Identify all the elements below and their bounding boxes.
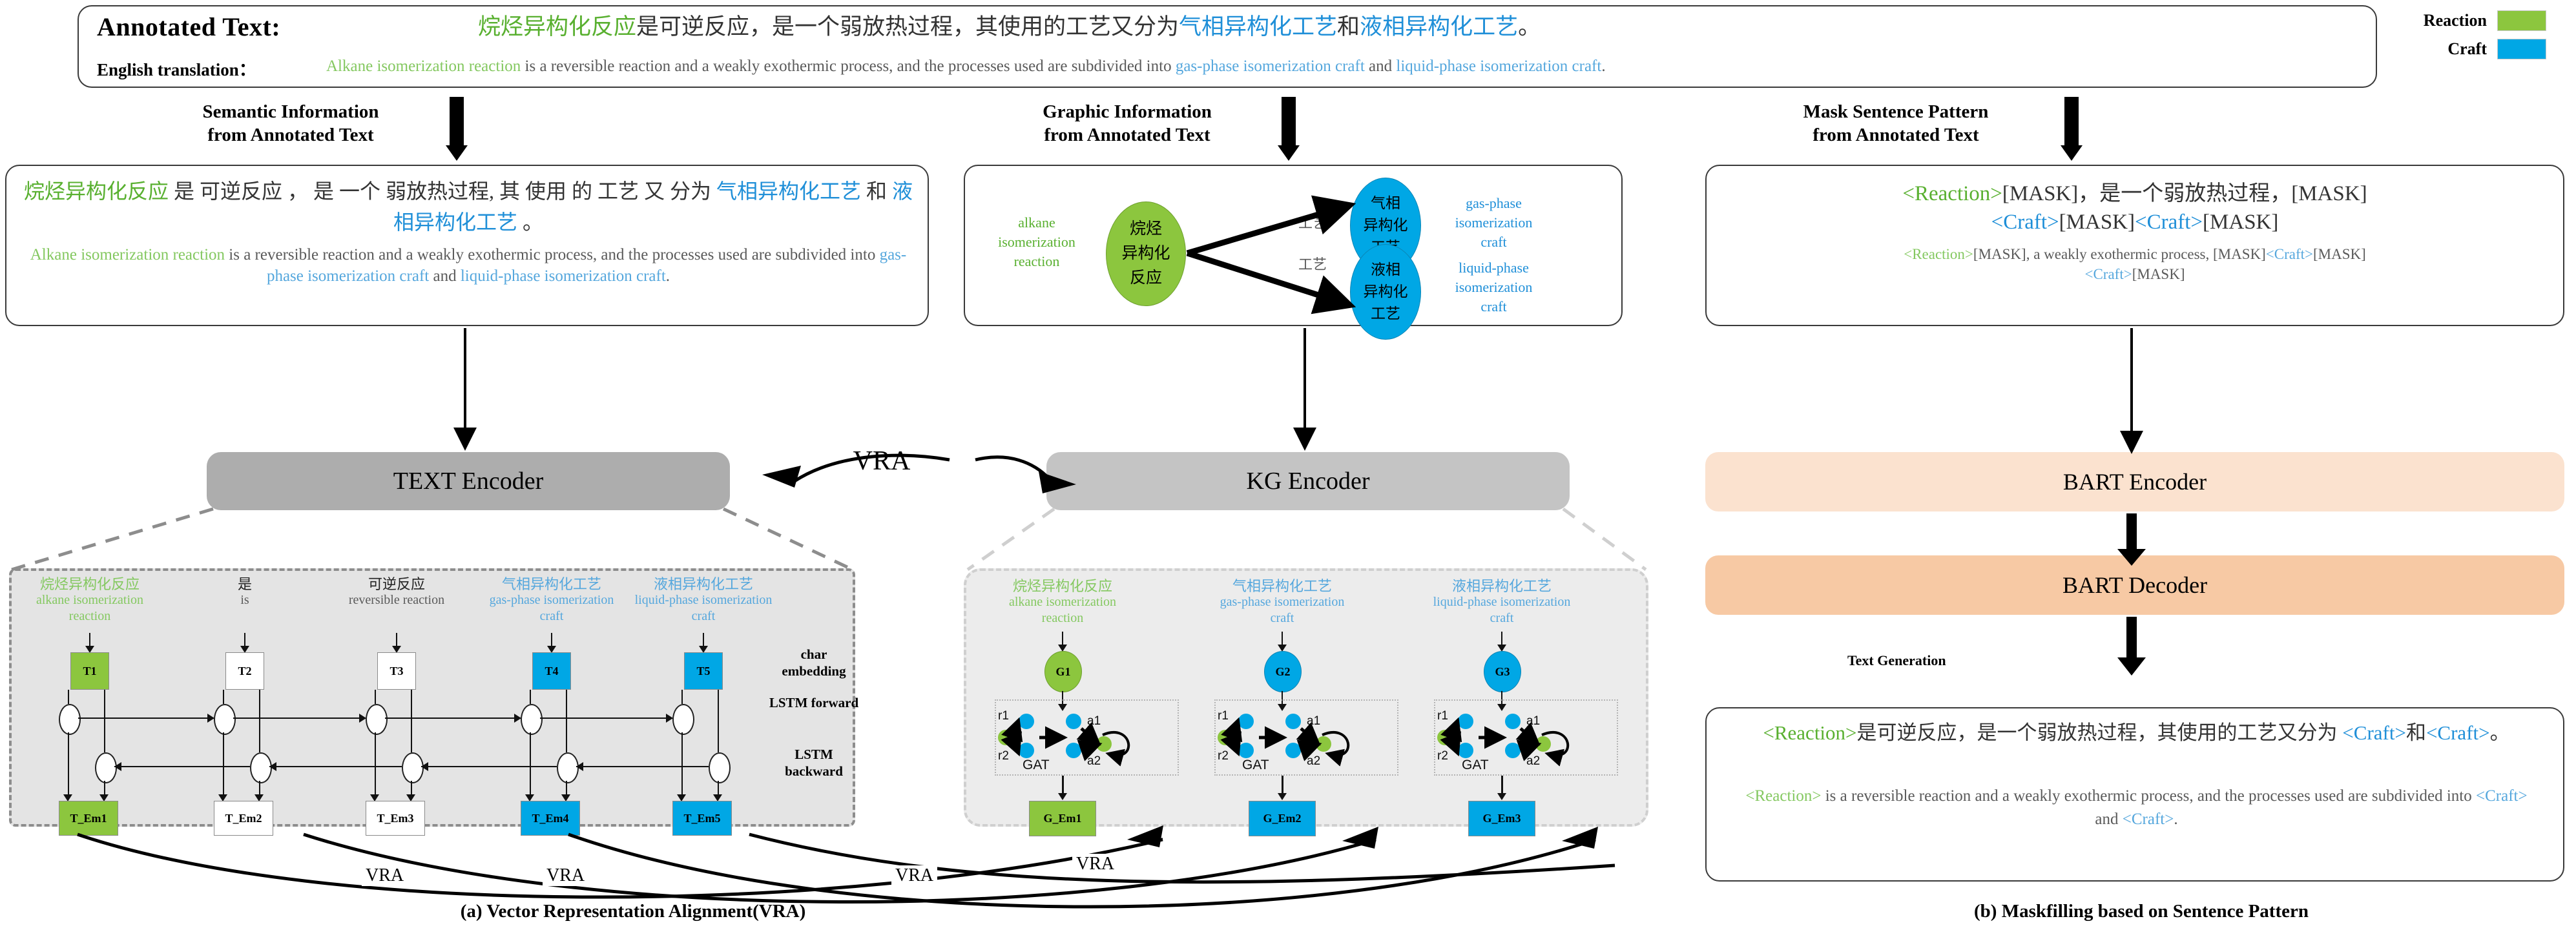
gat-relation-node-r1-3 <box>1458 714 1473 729</box>
gat-label-r1-2: r1 <box>1218 709 1229 723</box>
text-span-craft: liquid-phase isomerization craft <box>461 267 666 285</box>
text-span-plain: is a reversible reaction and a weakly ex… <box>225 246 880 263</box>
text-span-plain: 。 <box>1518 14 1541 39</box>
lstm-forward-link-head-2 <box>359 714 366 723</box>
text-span-craft: gas-phase isomerization craft <box>1176 57 1365 75</box>
lstm-backward-out-4 <box>566 781 567 796</box>
gat-label-a1-1: a1 <box>1087 714 1101 728</box>
gat-attn-node-1-1 <box>1066 714 1081 729</box>
gat-label-1: GAT <box>1023 758 1050 773</box>
gat-attn-node-1-3 <box>1505 714 1521 729</box>
text-token-en-3: reversible reaction <box>349 593 444 607</box>
gat-label-2: GAT <box>1242 758 1269 773</box>
char-embedding-box-label-4: T4 <box>545 665 558 678</box>
text-span-plain: [MASK]，是一个弱放热过程，[MASK] <box>2002 182 2367 205</box>
text-span-craft: <Craft> <box>2085 266 2132 282</box>
char-embedding-box-2: T2 <box>225 652 264 690</box>
gat-attn-node-2-1 <box>1066 743 1081 758</box>
lstm-backward-link-head-4 <box>576 762 583 771</box>
text-generation-label: Text Generation <box>1847 652 1946 669</box>
text-span-plain: and <box>1365 57 1397 75</box>
kg-graph-node-label-1: G1 <box>1055 665 1070 679</box>
lstm-backward-link-4 <box>576 766 709 767</box>
mask-pattern-english: <Reaction>[MASK], a weakly exothermic pr… <box>1718 244 2551 284</box>
text-embedding-label-4: T_Em4 <box>532 812 568 825</box>
kg-node-en-1: alkane isomerization reaction <box>1009 595 1116 625</box>
text-span-plain: [MASK] <box>2059 211 2135 234</box>
gat-relation-node-r2-2 <box>1238 743 1254 758</box>
gat-label-a2-1: a2 <box>1087 754 1101 769</box>
vra-link-label-1: VRA <box>543 865 588 886</box>
bart-encoder-block[interactable]: BART Encoder <box>1705 452 2564 511</box>
kg-embedding-label-3: G_Em3 <box>1482 812 1521 825</box>
text-span-plain: . <box>1601 57 1605 75</box>
text-span-plain: [MASK] <box>2132 266 2185 282</box>
text-span-plain: 是可逆反应，是一个弱放热过程，其使用的工艺又分为 <box>1857 721 2343 744</box>
text-span-craft: <Craft> <box>2266 246 2313 262</box>
kg-graph-node-label-3: G3 <box>1495 665 1510 679</box>
lstm-forward-cell-2 <box>214 704 236 735</box>
text-embedding-label-2: T_Em2 <box>225 812 262 825</box>
text-embedding-label-1: T_Em1 <box>70 812 107 825</box>
legend-label-reaction: Reaction <box>2390 11 2497 30</box>
gat-label-a2-2: a2 <box>1307 754 1320 769</box>
lstm-backward-label: LSTM backward <box>769 746 859 780</box>
kg-node-en-2: gas-phase isomerization craft <box>1220 595 1345 625</box>
lstm-forward-link-2 <box>233 718 366 719</box>
text-token-arrow-3 <box>396 633 397 647</box>
text-span-plain: [MASK] <box>2313 246 2366 262</box>
graphic-arrow-icon <box>1278 97 1300 161</box>
legend-item-craft: Craft <box>2390 35 2571 63</box>
legend-item-reaction: Reaction <box>2390 6 2571 35</box>
vra-link-label-3: VRA <box>1072 854 1118 874</box>
lstm-backward-in-2 <box>259 690 260 752</box>
char-embedding-box-label-2: T2 <box>238 665 251 678</box>
kg-node-zh-1: 烷烃异构化反应 <box>988 578 1137 594</box>
figure-caption-a: (a) Vector Representation Alignment(VRA) <box>213 901 1053 922</box>
lstm-forward-link-3 <box>385 718 521 719</box>
kg-embedding-label-2: G_Em2 <box>1263 812 1301 825</box>
gat-label-r2-3: r2 <box>1437 749 1448 763</box>
gat-relation-node-r1-1 <box>1019 714 1034 729</box>
lstm-backward-link-head-1 <box>114 762 121 771</box>
semantic-chinese-text: 烷烃异构化反应 是 可逆反应 ， 是 一个 弱放热过程, 其 使用 的 工艺 又… <box>19 176 917 238</box>
text-token-arrow-5 <box>703 633 704 647</box>
text-span-plain: 。 <box>517 211 543 234</box>
text-span-plain: is a reversible reaction and a weakly ex… <box>521 57 1176 75</box>
kg-node-arrow-3 <box>1501 632 1502 646</box>
mask-arrow-icon <box>2061 97 2083 161</box>
text-span-craft: 液相异构化工艺 <box>1360 14 1518 39</box>
annotated-text-english: Alkane isomerization reaction is a rever… <box>326 57 2348 76</box>
legend: Reaction Craft <box>2390 6 2571 77</box>
text-span-plain: . <box>666 267 670 285</box>
vra-top-label: VRA <box>804 446 959 477</box>
kg-embedding-box-1: G_Em1 <box>1029 801 1096 836</box>
text-span-craft: <Craft> <box>2426 721 2490 744</box>
bart-decoder-label: BART Decoder <box>2062 572 2207 599</box>
lstm-backward-link-1 <box>114 766 250 767</box>
gat-attn-node-2-3 <box>1505 743 1521 758</box>
kg-graph-node-label-2: G2 <box>1275 665 1290 679</box>
lstm-backward-link-head-3 <box>421 762 428 771</box>
gat-relation-node-r2-3 <box>1458 743 1473 758</box>
char-embedding-box-4: T4 <box>532 652 571 690</box>
kg-node-zh-2: 气相异构化工艺 <box>1208 578 1356 594</box>
lstm-forward-cell-3 <box>366 704 388 735</box>
text-span-reaction: 烷烃异构化反应 <box>24 180 169 203</box>
text-token-label-5: 液相异构化工艺liquid-phase isomerization craft <box>632 576 774 625</box>
text-token-en-2: is <box>240 593 249 607</box>
semantic-english-text: Alkane isomerization reaction is a rever… <box>29 244 908 287</box>
text-span-reaction: <Reaction> <box>1904 246 1973 262</box>
text-token-en-5: liquid-phase isomerization craft <box>635 593 773 623</box>
text-span-plain: [MASK] <box>2203 211 2278 234</box>
text-span-plain: 是 可逆反应 ， 是 一个 弱放热过程, 其 使用 的 工艺 又 分为 <box>169 180 716 203</box>
gat-label-a2-3: a2 <box>1526 754 1540 769</box>
graphic-info-caption: Graphic Information from Annotated Text <box>988 100 1266 147</box>
text-token-label-3: 可逆反应reversible reaction <box>326 576 468 608</box>
char-embedding-box-label-5: T5 <box>696 665 710 678</box>
annotated-text-chinese: 烷烃异构化反应是可逆反应，是一个弱放热过程，其使用的工艺又分为气相异构化工艺和液… <box>478 13 2351 41</box>
gat-label-r1-3: r1 <box>1437 709 1448 723</box>
text-span-reaction: <Reaction> <box>1745 787 1821 805</box>
gat-target-node-3 <box>1535 736 1551 752</box>
bart-encoder-label: BART Encoder <box>2063 468 2207 495</box>
english-translation-label: English translation： <box>97 56 256 81</box>
gat-label-3: GAT <box>1462 758 1489 773</box>
gat-label-r2-2: r2 <box>1218 749 1229 763</box>
lstm-forward-out-4 <box>530 732 531 796</box>
kg-node-label-3: 液相异构化工艺liquid-phase isomerization craft <box>1428 578 1576 626</box>
char-embedding-box-5: T5 <box>684 652 723 690</box>
text-span-craft: <Craft> <box>1991 211 2059 234</box>
char-embedding-label: char embedding <box>769 646 859 679</box>
lstm-forward-cell-1 <box>59 704 81 735</box>
kg-embedding-label-1: G_Em1 <box>1043 812 1081 825</box>
gat-target-node-2 <box>1316 736 1331 752</box>
lstm-forward-in-3 <box>375 690 376 704</box>
text-span-reaction: Alkane isomerization reaction <box>30 246 225 263</box>
gat-label-a1-2: a1 <box>1307 714 1320 728</box>
gat-attn-node-1-2 <box>1285 714 1301 729</box>
kg-encoder-label: KG Encoder <box>1247 467 1370 495</box>
text-token-zh-2: 是 <box>174 576 316 592</box>
char-embedding-box-label-3: T3 <box>390 665 403 678</box>
lstm-backward-in-3 <box>411 690 412 752</box>
lstm-forward-out-3 <box>375 732 376 796</box>
lstm-backward-in-1 <box>104 690 105 752</box>
text-embedding-box-3: T_Em3 <box>366 801 425 836</box>
lstm-forward-cell-4 <box>521 704 543 735</box>
text-token-arrow-4 <box>551 633 552 647</box>
lstm-forward-out-2 <box>223 732 224 796</box>
lstm-forward-link-4 <box>540 718 672 719</box>
kg-head-node-english: alkane isomerization reaction <box>975 213 1098 271</box>
figure-caption-b: (b) Maskfilling based on Sentence Patter… <box>1744 901 2539 922</box>
text-token-en-4: gas-phase isomerization craft <box>490 593 614 623</box>
lstm-backward-out-1 <box>104 781 105 796</box>
text-embedding-box-1: T_Em1 <box>59 801 118 836</box>
legend-swatch-reaction <box>2497 10 2546 31</box>
kg-tail-node-2-english: liquid-phase isomerization craft <box>1428 258 1560 316</box>
char-embedding-box-3: T3 <box>377 652 416 690</box>
lstm-forward-cell-5 <box>672 704 694 735</box>
semantic-info-caption: Semantic Information from Annotated Text <box>155 100 426 147</box>
text-span-craft: <Craft> <box>2342 721 2406 744</box>
gat-to-emb-head-2 <box>1278 793 1287 800</box>
lstm-backward-link-head-2 <box>269 762 276 771</box>
text-span-plain: 和 <box>1337 14 1360 39</box>
lstm-forward-link-head-3 <box>514 714 521 723</box>
gat-relation-node-r1-2 <box>1238 714 1254 729</box>
kg-node-label-2: 气相异构化工艺gas-phase isomerization craft <box>1208 578 1356 626</box>
text-span-reaction: <Reaction> <box>1902 182 2002 205</box>
text-span-craft: <Craft> <box>2476 787 2528 805</box>
kg-graph-node-2: G2 <box>1264 651 1302 692</box>
kg-head-node: 烷烃 异构化 反应 <box>1106 201 1186 306</box>
text-span-plain: is a reversible reaction and a weakly ex… <box>1821 787 2476 805</box>
gat-to-emb-head-1 <box>1058 793 1067 800</box>
legend-label-craft: Craft <box>2390 39 2497 59</box>
kg-node-zh-3: 液相异构化工艺 <box>1428 578 1576 594</box>
kg-embedding-box-2: G_Em2 <box>1249 801 1316 836</box>
kg-node-arrow-1 <box>1062 632 1063 646</box>
text-span-craft: <Craft> <box>2135 211 2203 234</box>
lstm-backward-out-5 <box>718 781 719 796</box>
kg-graph-node-1: G1 <box>1044 651 1082 692</box>
lstm-forward-in-4 <box>530 690 531 704</box>
bart-decoder-block[interactable]: BART Decoder <box>1705 555 2564 615</box>
char-embedding-box-1: T1 <box>70 652 109 690</box>
generated-output-english: <Reaction> is a reversible reaction and … <box>1744 785 2529 831</box>
lstm-backward-cell-1 <box>95 752 117 783</box>
text-span-reaction: <Reaction> <box>1763 721 1856 744</box>
lstm-backward-link-3 <box>421 766 557 767</box>
text-encoder-block[interactable]: TEXT Encoder <box>207 452 730 510</box>
gat-target-node-1 <box>1096 736 1112 752</box>
text-embedding-box-2: T_Em2 <box>214 801 273 836</box>
kg-edge-label-2: 工艺 <box>1298 253 1327 274</box>
gat-label-a1-3: a1 <box>1526 714 1540 728</box>
lstm-forward-out-5 <box>681 732 683 796</box>
lstm-backward-link-2 <box>269 766 402 767</box>
lstm-backward-out-2 <box>259 781 260 796</box>
text-embedding-label-3: T_Em3 <box>377 812 413 825</box>
text-token-label-1: 烷烃异构化反应alkane isomerization reaction <box>19 576 161 625</box>
kg-edge-label-1: 工艺 <box>1298 212 1327 232</box>
text-span-plain: [MASK], a weakly exothermic process, [MA… <box>1973 246 2266 262</box>
gat-to-emb-head-3 <box>1497 793 1506 800</box>
lstm-forward-out-1 <box>68 732 69 796</box>
kg-tail-node-1-english: gas-phase isomerization craft <box>1428 194 1560 252</box>
mask-pattern-chinese: <Reaction>[MASK]，是一个弱放热过程，[MASK] <Craft>… <box>1718 180 2551 236</box>
text-embedding-box-5: T_Em5 <box>672 801 732 836</box>
annotated-text-label: Annotated Text: <box>97 12 280 42</box>
gat-source-node-3 <box>1437 730 1453 745</box>
text-span-reaction: Alkane isomerization reaction <box>326 57 521 75</box>
text-embedding-box-4: T_Em4 <box>521 801 580 836</box>
text-token-zh-5: 液相异构化工艺 <box>632 576 774 592</box>
text-span-plain: 。 <box>2490 721 2510 744</box>
text-span-craft: <Craft> <box>2123 811 2174 828</box>
text-span-plain: 和 <box>2406 721 2426 744</box>
lstm-forward-in-5 <box>681 690 683 704</box>
lstm-forward-in-1 <box>68 690 69 704</box>
kg-graph-node-3: G3 <box>1484 651 1521 692</box>
text-span-craft: liquid-phase isomerization craft <box>1396 57 1601 75</box>
text-token-zh-1: 烷烃异构化反应 <box>19 576 161 592</box>
gat-source-node-1 <box>998 730 1013 745</box>
text-span-craft: 气相异构化工艺 <box>1179 14 1337 39</box>
kg-tail-node-2: 液相 异构化 工艺 <box>1350 244 1421 340</box>
text-token-arrow-1 <box>89 633 90 647</box>
mask-pattern-caption: Mask Sentence Pattern from Annotated Tex… <box>1744 100 2048 147</box>
vra-link-label-4: VRA <box>362 865 408 886</box>
kg-node-en-3: liquid-phase isomerization craft <box>1433 595 1571 625</box>
lstm-backward-out-3 <box>411 781 412 796</box>
text-token-zh-3: 可逆反应 <box>326 576 468 592</box>
lstm-forward-link-head-4 <box>666 714 673 723</box>
text-span-plain: 和 <box>861 180 892 203</box>
gat-label-r1-1: r1 <box>998 709 1009 723</box>
generated-output-chinese: <Reaction>是可逆反应，是一个弱放热过程，其使用的工艺又分为 <Craf… <box>1721 718 2551 748</box>
lstm-forward-link-1 <box>78 718 214 719</box>
text-token-arrow-2 <box>244 633 245 647</box>
text-token-en-1: alkane isomerization reaction <box>36 593 143 623</box>
lstm-forward-label: LSTM forward <box>769 694 859 711</box>
lstm-forward-link-head-1 <box>207 714 214 723</box>
gat-attn-node-2-2 <box>1285 743 1301 758</box>
vra-link-label-2: VRA <box>891 865 937 886</box>
kg-embedding-box-3: G_Em3 <box>1468 801 1535 836</box>
text-span-plain: and <box>2095 811 2122 828</box>
lstm-forward-in-2 <box>223 690 224 704</box>
kg-node-label-1: 烷烃异构化反应alkane isomerization reaction <box>988 578 1137 626</box>
lstm-backward-cell-4 <box>557 752 579 783</box>
lstm-backward-in-5 <box>718 690 719 752</box>
lstm-backward-cell-2 <box>250 752 272 783</box>
legend-swatch-craft <box>2497 39 2546 59</box>
gat-label-r2-1: r2 <box>998 749 1009 763</box>
text-span-plain: 是可逆反应，是一个弱放热过程，其使用的工艺又分为 <box>636 14 1179 39</box>
text-embedding-label-5: T_Em5 <box>683 812 720 825</box>
kg-node-arrow-2 <box>1282 632 1283 646</box>
char-embedding-box-label-1: T1 <box>83 665 96 678</box>
text-span-plain: and <box>429 267 461 285</box>
text-token-label-2: 是is <box>174 576 316 608</box>
text-encoder-label: TEXT Encoder <box>393 467 544 495</box>
text-span-plain: . <box>2174 811 2177 828</box>
lstm-backward-in-4 <box>566 690 567 752</box>
semantic-arrow-icon <box>446 97 468 161</box>
gat-source-node-2 <box>1218 730 1233 745</box>
text-token-zh-4: 气相异构化工艺 <box>481 576 623 592</box>
kg-encoder-block[interactable]: KG Encoder <box>1046 452 1570 510</box>
text-span-reaction: 烷烃异构化反应 <box>478 14 636 39</box>
text-span-craft: 气相异构化工艺 <box>716 180 861 203</box>
lstm-backward-cell-3 <box>402 752 424 783</box>
lstm-backward-cell-5 <box>709 752 731 783</box>
text-token-label-4: 气相异构化工艺gas-phase isomerization craft <box>481 576 623 625</box>
gat-relation-node-r2-1 <box>1019 743 1034 758</box>
